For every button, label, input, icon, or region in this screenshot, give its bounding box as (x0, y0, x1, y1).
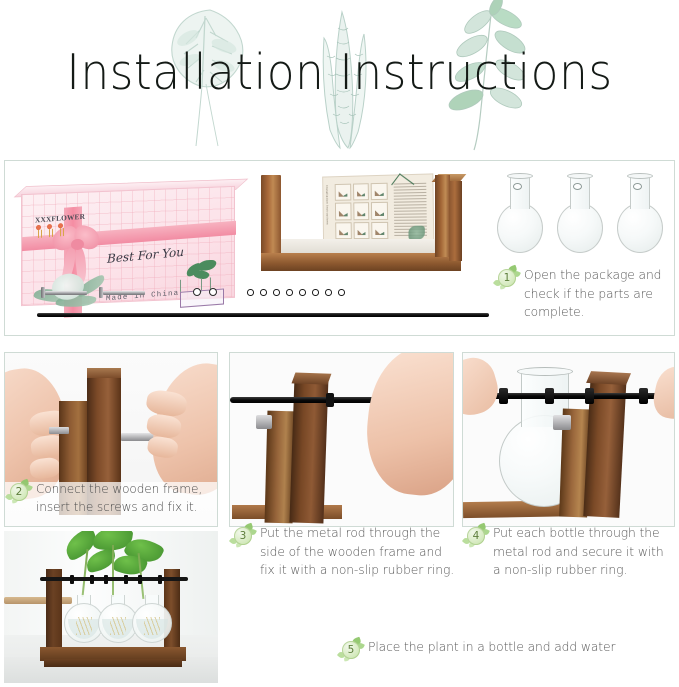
step-number-badge-2: 2 (8, 481, 30, 503)
rubber-ring-part (338, 289, 345, 296)
caption-line: metal rod and secure it with (493, 543, 664, 562)
step-number-badge-5: 5 (340, 639, 362, 661)
caption-line: Connect the wooden frame, (36, 480, 202, 498)
metal-rod (40, 577, 188, 581)
caption-line: check if the parts are (524, 285, 661, 304)
wood-post-right-front (435, 175, 450, 257)
rubber-ring-part (299, 289, 306, 296)
box-tagline: Best For You (107, 245, 184, 266)
step-5-text: Place the plant in a bottle and add wate… (368, 638, 615, 657)
glass-bottle (613, 173, 667, 261)
step-4-panel (462, 352, 675, 527)
step-3-caption: 3 Put the metal rod through the side of … (232, 524, 454, 580)
step-5-caption: 5 Place the plant in a bottle and add wa… (340, 638, 615, 661)
step-3-text: Put the metal rod through the side of th… (260, 524, 454, 580)
stand-base-bottom (44, 659, 182, 667)
bottle-side-hole (633, 183, 642, 190)
wood-post-right-back (449, 181, 462, 261)
rubber-ring-on-rod (585, 388, 594, 404)
step-number: 4 (473, 531, 480, 542)
glass-bottle-with-plant (132, 595, 172, 643)
stand-post-left (46, 569, 62, 653)
caption-line: Put the metal rod through the (260, 524, 454, 543)
step-4-caption: 4 Put each bottle through the metal rod … (465, 524, 664, 580)
glass-bottle (553, 173, 607, 261)
caption-line: Put each bottle through the (493, 524, 664, 543)
rubber-ring-on-rod (639, 388, 648, 404)
page-header: Installation Instructions (0, 0, 679, 158)
glass-bottle (493, 173, 547, 261)
rubber-ring-part (260, 289, 267, 296)
screw-part (99, 289, 145, 296)
rubber-ring-part (247, 289, 254, 296)
step-number: 3 (240, 531, 247, 542)
rubber-ring-part (312, 289, 319, 296)
washer-part (193, 288, 201, 296)
metal-rod-part (37, 313, 489, 317)
rubber-ring-on-rod (326, 393, 334, 407)
washer-part (209, 288, 217, 296)
wooden-frame-parts (261, 175, 471, 275)
step-2-text: Connect the wooden frame, insert the scr… (36, 480, 202, 517)
step-4-text: Put each bottle through the metal rod an… (493, 524, 664, 580)
screw-nut (256, 415, 272, 429)
caption-line: fix it with a non-slip rubber ring. (260, 561, 454, 580)
rubber-ring-on-rod (545, 388, 554, 404)
step-number-badge-1: 1 (496, 267, 518, 289)
step-5-panel (4, 531, 218, 683)
step-number: 1 (504, 273, 511, 284)
step-2-caption: 2 Connect the wooden frame, insert the s… (8, 480, 202, 517)
step-number: 2 (16, 487, 23, 498)
caption-line: a non-slip rubber ring. (493, 561, 664, 580)
glass-bottles-group (493, 173, 673, 273)
step-number-badge-3: 3 (232, 525, 254, 547)
wood-post-left (261, 175, 281, 259)
rubber-ring-part (325, 289, 332, 296)
page-title: Installation Instructions (24, 44, 655, 101)
rubber-ring-part (286, 289, 293, 296)
step-1-text: Open the package and check if the parts … (524, 266, 661, 322)
caption-line: complete. (524, 303, 661, 322)
screw-nut (553, 415, 571, 430)
screw-inserted-left (49, 427, 69, 434)
rubber-ring-part (273, 289, 280, 296)
step-number: 5 (348, 645, 355, 656)
bottle-side-hole (513, 183, 522, 190)
caption-line: side of the wooden frame and (260, 543, 454, 562)
hardware-parts-row (41, 285, 481, 307)
brand-flower-icon (35, 223, 69, 240)
caption-line: insert the screws and fix it. (36, 498, 202, 516)
rubber-ring-on-rod (499, 388, 508, 404)
assembled-plant-stand (46, 569, 182, 669)
caption-line: Open the package and (524, 266, 661, 285)
bottle-side-hole (573, 183, 582, 190)
step-number-badge-4: 4 (465, 525, 487, 547)
step-1-caption: 1 Open the package and check if the part… (496, 266, 661, 322)
caption-line: Place the plant in a bottle and add wate… (368, 638, 615, 657)
step-3-panel (229, 352, 454, 527)
wood-base-rail (261, 253, 461, 271)
screw-part (41, 289, 87, 296)
